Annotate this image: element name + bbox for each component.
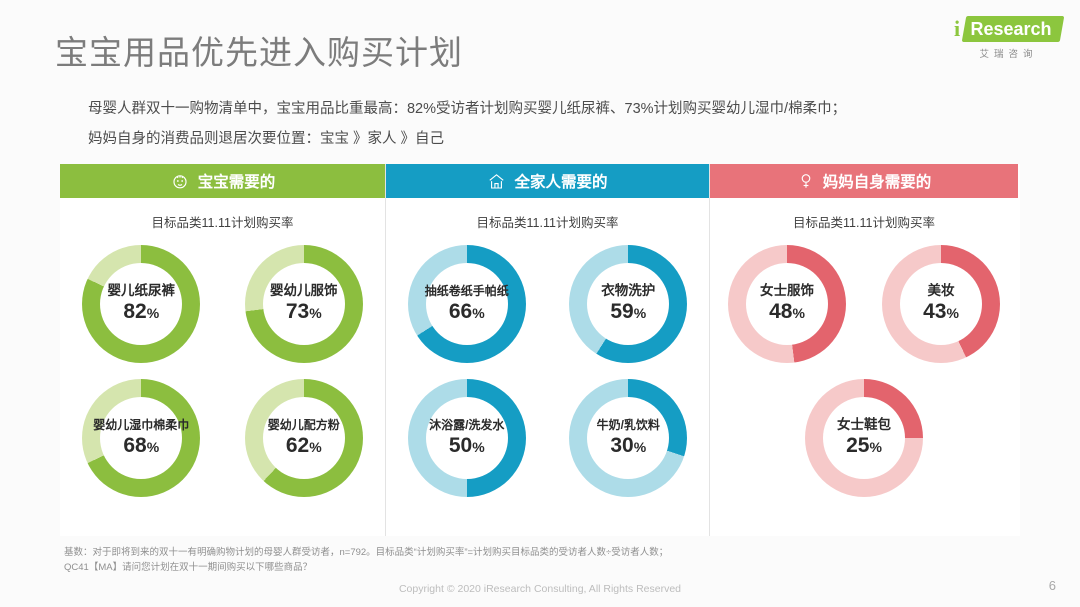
column-baby: 宝宝需要的 目标品类11.11计划购买率 婴儿纸尿裤 82%	[60, 164, 385, 536]
donut-value: 68%	[123, 434, 159, 459]
donut-cell: 女士鞋包 25%	[787, 379, 941, 497]
donut-cell: 女士服饰 48%	[710, 245, 864, 363]
baby-face-icon	[170, 171, 190, 191]
donut-hole: 抽纸卷纸手帕纸 66%	[426, 263, 508, 345]
donut-grid-mom: 女士服饰 48% 美妆 43%	[710, 245, 1018, 513]
donut-hole: 美妆 43%	[900, 263, 982, 345]
column-title-mom: 妈妈自身需要的	[823, 170, 932, 192]
donut-chart: 美妆 43%	[882, 245, 1000, 363]
donut-label: 婴幼儿服饰	[270, 283, 338, 299]
subtitle-line-2: 妈妈自身的消费品则退居次要位置：宝宝 》家人 》自己	[88, 124, 1028, 154]
donut-cell: 牛奶/乳饮料 30%	[548, 379, 710, 497]
donut-cell: 衣物洗护 59%	[548, 245, 710, 363]
donut-label: 沐浴露/洗发水	[429, 417, 504, 433]
subtitle-line-1: 母婴人群双十一购物清单中，宝宝用品比重最高：82%受访者计划购买婴儿纸尿裤、73…	[88, 94, 1028, 124]
donut-value: 66%	[449, 300, 485, 325]
female-symbol-icon	[797, 171, 815, 191]
column-subtitle-baby: 目标品类11.11计划购买率	[60, 212, 385, 231]
donut-cell: 沐浴露/洗发水 50%	[386, 379, 548, 497]
subtitle-block: 母婴人群双十一购物清单中，宝宝用品比重最高：82%受访者计划购买婴儿纸尿裤、73…	[88, 94, 1028, 154]
donut-cell: 美妆 43%	[864, 245, 1018, 363]
column-family: 全家人需要的 目标品类11.11计划购买率 抽纸卷纸手帕纸 66%	[385, 164, 710, 536]
donut-chart: 婴幼儿服饰 73%	[245, 245, 363, 363]
donut-hole: 婴幼儿湿巾棉柔巾 68%	[100, 397, 182, 479]
column-subtitle-family: 目标品类11.11计划购买率	[386, 212, 709, 231]
donut-label: 婴幼儿配方粉	[268, 417, 340, 433]
donut-cell: 婴幼儿湿巾棉柔巾 68%	[60, 379, 223, 497]
page-number: 6	[1049, 578, 1056, 593]
donut-hole: 沐浴露/洗发水 50%	[426, 397, 508, 479]
chart-panel: 宝宝需要的 目标品类11.11计划购买率 婴儿纸尿裤 82%	[60, 164, 1020, 536]
donut-chart: 衣物洗护 59%	[569, 245, 687, 363]
column-mom: 妈妈自身需要的 目标品类11.11计划购买率 女士服饰 48%	[710, 164, 1018, 536]
donut-hole: 女士鞋包 25%	[823, 397, 905, 479]
donut-value: 30%	[610, 434, 646, 459]
donut-hole: 婴儿纸尿裤 82%	[100, 263, 182, 345]
slide: i Research 艾瑞咨询 宝宝用品优先进入购买计划 母婴人群双十一购物清单…	[0, 0, 1080, 607]
donut-chart: 女士鞋包 25%	[805, 379, 923, 497]
donut-cell: 婴幼儿服饰 73%	[223, 245, 386, 363]
donut-hole: 婴幼儿服饰 73%	[263, 263, 345, 345]
donut-value: 59%	[610, 300, 646, 325]
donut-hole: 牛奶/乳饮料 30%	[587, 397, 669, 479]
donut-label: 美妆	[928, 283, 955, 299]
donut-hole: 女士服饰 48%	[746, 263, 828, 345]
donut-cell: 抽纸卷纸手帕纸 66%	[386, 245, 548, 363]
donut-label: 女士鞋包	[837, 417, 891, 433]
column-subtitle-mom: 目标品类11.11计划购买率	[710, 212, 1018, 231]
logo-mark: i Research	[950, 14, 1062, 44]
donut-cell: 婴儿纸尿裤 82%	[60, 245, 223, 363]
page-title: 宝宝用品优先进入购买计划	[55, 26, 463, 74]
logo-chinese-name: 艾瑞咨询	[950, 46, 1062, 60]
donut-chart: 沐浴露/洗发水 50%	[408, 379, 526, 497]
donut-value: 73%	[286, 300, 322, 325]
donut-grid-baby: 婴儿纸尿裤 82% 婴幼儿服饰 73%	[60, 245, 385, 513]
donut-chart: 婴幼儿配方粉 62%	[245, 379, 363, 497]
house-icon	[487, 172, 506, 191]
donut-label: 女士服饰	[760, 283, 814, 299]
iresearch-logo: i Research 艾瑞咨询	[950, 14, 1062, 60]
donut-value: 43%	[923, 300, 959, 325]
donut-chart: 女士服饰 48%	[728, 245, 846, 363]
donut-value: 25%	[846, 434, 882, 459]
footnote-block: 基数：对于即将到来的双十一有明确购物计划的母婴人群受访者，n=792。目标品类“…	[64, 545, 1044, 575]
donut-label: 衣物洗护	[601, 283, 655, 299]
donut-label: 婴幼儿湿巾棉柔巾	[93, 417, 189, 433]
column-header-family: 全家人需要的	[386, 164, 709, 198]
donut-value: 62%	[286, 434, 322, 459]
donut-value: 48%	[769, 300, 805, 325]
donut-hole: 衣物洗护 59%	[587, 263, 669, 345]
copyright-text: Copyright © 2020 iResearch Consulting, A…	[0, 583, 1080, 595]
donut-chart: 牛奶/乳饮料 30%	[569, 379, 687, 497]
footnote-line-1: 基数：对于即将到来的双十一有明确购物计划的母婴人群受访者，n=792。目标品类“…	[64, 545, 1044, 560]
column-title-family: 全家人需要的	[514, 170, 607, 192]
footnote-line-2: QC41【MA】请问您计划在双十一期间购买以下哪些商品？	[64, 560, 1044, 575]
donut-value: 82%	[123, 300, 159, 325]
column-title-baby: 宝宝需要的	[198, 170, 276, 192]
column-header-baby: 宝宝需要的	[60, 164, 385, 198]
donut-grid-family: 抽纸卷纸手帕纸 66% 衣物洗护 59%	[386, 245, 709, 513]
donut-label: 牛奶/乳饮料	[597, 417, 660, 433]
donut-cell: 婴幼儿配方粉 62%	[223, 379, 386, 497]
column-header-mom: 妈妈自身需要的	[710, 164, 1018, 198]
donut-chart: 婴幼儿湿巾棉柔巾 68%	[82, 379, 200, 497]
donut-chart: 抽纸卷纸手帕纸 66%	[408, 245, 526, 363]
logo-wordmark: Research	[950, 16, 1062, 42]
donut-chart: 婴儿纸尿裤 82%	[82, 245, 200, 363]
donut-label: 抽纸卷纸手帕纸	[425, 283, 509, 299]
column-container: 宝宝需要的 目标品类11.11计划购买率 婴儿纸尿裤 82%	[60, 164, 1020, 536]
donut-value: 50%	[449, 434, 485, 459]
donut-hole: 婴幼儿配方粉 62%	[263, 397, 345, 479]
donut-label: 婴儿纸尿裤	[108, 283, 176, 299]
